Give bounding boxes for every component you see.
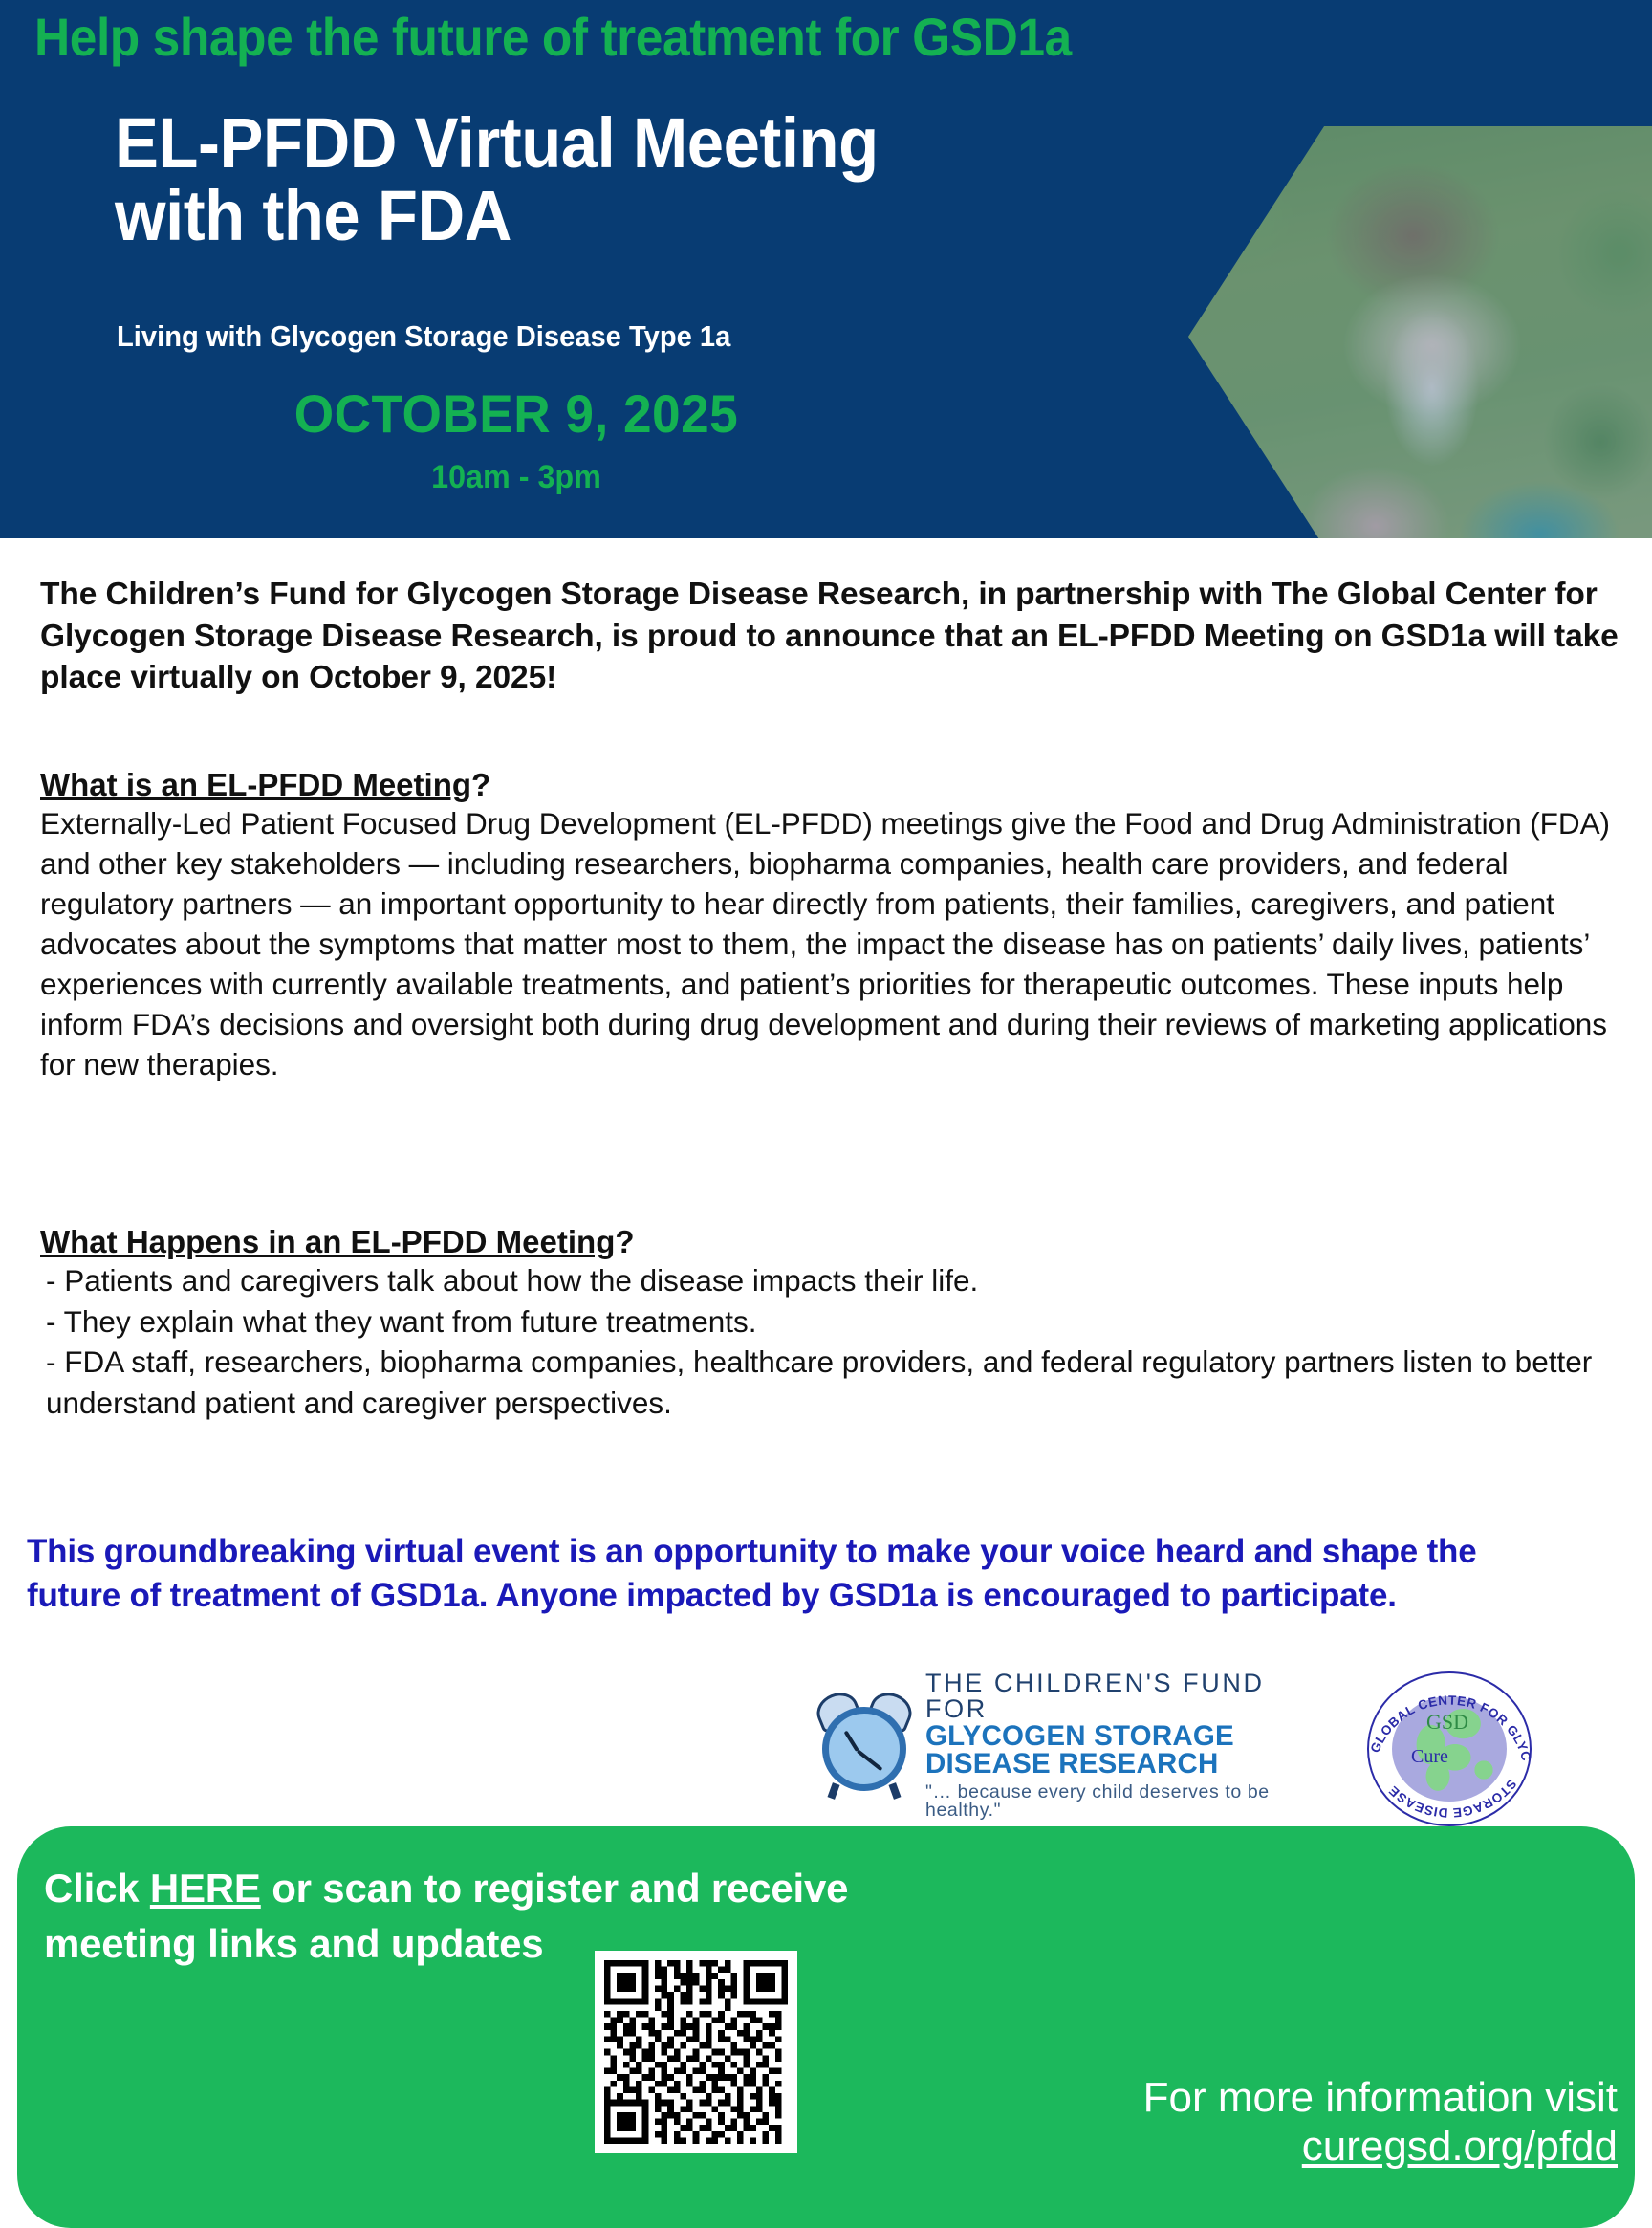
page-title: EL-PFDD Virtual Meeting with the FDA — [115, 107, 879, 252]
alarm-clock-icon — [815, 1692, 914, 1799]
childrens-fund-tagline: "… because every child deserves to be he… — [925, 1783, 1312, 1821]
section-what-is: What is an EL-PFDD Meeting? Externally-L… — [40, 767, 1635, 1084]
intro-paragraph: The Children’s Fund for Glycogen Storage… — [40, 574, 1627, 699]
section-heading-what-happens-underlined: What Happens in an EL-PFDD Meeting — [40, 1224, 615, 1259]
closing-statement: This groundbreaking virtual event is an … — [27, 1530, 1537, 1618]
hero-banner: Help shape the future of treatment for G… — [0, 0, 1652, 538]
website-url-link[interactable]: curegsd.org/pfdd — [757, 2122, 1618, 2171]
global-center-arc-text: GLOBAL CENTER FOR GLYCOGEN STORAGE DISEA… — [1367, 1671, 1532, 1826]
childrens-fund-wordmark: THE CHILDREN'S FUND FOR GLYCOGEN STORAGE… — [925, 1671, 1312, 1821]
list-item: - Patients and caregivers talk about how… — [46, 1260, 1635, 1301]
clock-face — [822, 1707, 906, 1791]
list-item: - They explain what they want from futur… — [46, 1301, 1635, 1343]
event-date: OCTOBER 9, 2025 — [26, 382, 1007, 445]
childrens-fund-line2: GLYCOGEN STORAGE DISEASE RESEARCH — [925, 1722, 1312, 1779]
childrens-fund-logo: THE CHILDREN'S FUND FOR GLYCOGEN STORAGE… — [815, 1683, 1312, 1807]
event-time: 10am - 3pm — [26, 459, 1007, 496]
global-center-arc-top: GLOBAL CENTER FOR GLYCOGEN — [1367, 1671, 1532, 1763]
registration-footer: Click HERE or scan to register and recei… — [17, 1826, 1635, 2228]
section-heading-what-is-qmark: ? — [471, 767, 490, 802]
section-what-happens: What Happens in an EL-PFDD Meeting? - Pa… — [40, 1224, 1635, 1423]
section-heading-what-is-underlined: What is an EL-PFDD Meeting — [40, 767, 471, 802]
global-center-arc-bottom: STORAGE DISEASE — [1386, 1777, 1520, 1820]
photo-navy-tint-overlay — [1188, 126, 1652, 538]
global-center-logo: GSD Cure GLOBAL CENTER FOR GLYCOGEN STOR… — [1367, 1671, 1532, 1826]
section-heading-what-is: What is an EL-PFDD Meeting? — [40, 767, 1635, 803]
more-info-label: For more information visit — [757, 2073, 1618, 2122]
childrens-fund-line1: THE CHILDREN'S FUND FOR — [925, 1671, 1312, 1722]
clock-foot-left — [828, 1782, 840, 1800]
list-item: - FDA staff, researchers, biopharma comp… — [46, 1342, 1635, 1423]
section-heading-what-happens: What Happens in an EL-PFDD Meeting? — [40, 1224, 1635, 1260]
section-paragraph-what-is: Externally-Led Patient Focused Drug Deve… — [40, 803, 1635, 1084]
cta-prefix: Click — [44, 1866, 150, 1911]
section-heading-what-happens-qmark: ? — [615, 1224, 634, 1259]
hero-kicker: Help shape the future of treatment for G… — [34, 6, 1072, 68]
cta-text: Click HERE or scan to register and recei… — [44, 1861, 1000, 1972]
bullet-list: - Patients and caregivers talk about how… — [40, 1260, 1635, 1423]
clock-foot-right — [889, 1782, 902, 1800]
more-info-block: For more information visit curegsd.org/p… — [757, 2073, 1618, 2171]
here-link[interactable]: HERE — [150, 1866, 261, 1911]
hero-photo-hexagon — [1188, 126, 1652, 538]
hero-subtitle: Living with Glycogen Storage Disease Typ… — [117, 319, 730, 354]
